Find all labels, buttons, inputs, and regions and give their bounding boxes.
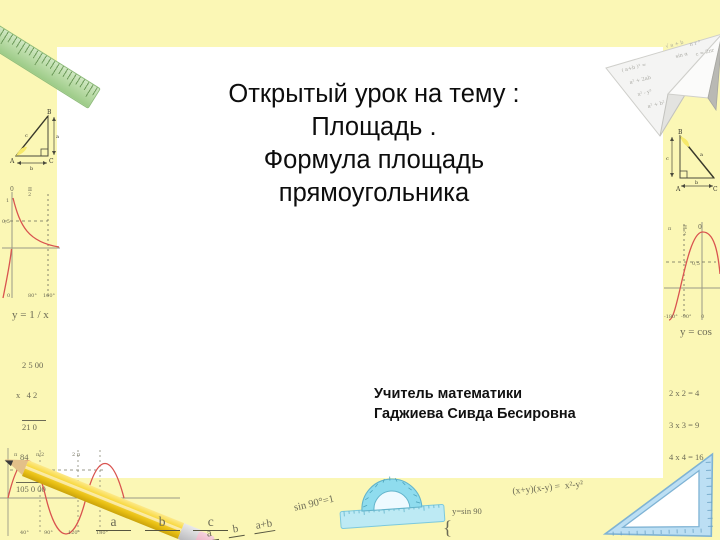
equation-line: y=sin 90 <box>452 506 491 517</box>
cyan-protractor <box>338 470 446 532</box>
equation-system: { y=sin 90 x=25y + 45 { y= 1 x= 25 + 45 … <box>443 462 491 540</box>
svg-text:π: π <box>683 224 687 231</box>
svg-text:b: b <box>30 166 33 170</box>
svg-text:a: a <box>56 134 59 140</box>
graph-hyperbola: 1 0,5 0 0 π 2 80° 160° <box>2 186 60 306</box>
svg-text:π/2: π/2 <box>36 452 44 458</box>
svg-text:-90°: -90° <box>681 314 692 320</box>
long-multiplication-line: 2 5 00 <box>22 360 46 370</box>
graph-hyperbola-label: y = 1 / x <box>12 309 49 322</box>
svg-text:B: B <box>678 129 683 136</box>
svg-text:1: 1 <box>6 198 9 204</box>
slide-title-line: Открытый урок на тему : <box>104 78 644 111</box>
svg-text:160°: 160° <box>43 293 56 299</box>
svg-text:0: 0 <box>701 314 704 320</box>
svg-text:2 π: 2 π <box>72 452 81 458</box>
triangle-diagram-right: B A C c a b <box>664 128 720 192</box>
svg-text:80°: 80° <box>28 293 37 299</box>
svg-text:c: c <box>666 156 669 162</box>
svg-text:c: c <box>25 133 28 139</box>
fraction-term: a <box>200 526 218 540</box>
svg-text:2: 2 <box>28 192 31 198</box>
svg-text:40°: 40° <box>20 530 29 536</box>
svg-text:b: b <box>695 180 698 186</box>
graph-cosine-label: y = cos <box>680 326 712 339</box>
graph-cosine: 0 π 2 π 0,5 -180° -90° 0 <box>664 216 720 326</box>
times-table-row: 3 x 3 = 9 <box>669 420 704 431</box>
svg-text:0: 0 <box>7 293 10 299</box>
svg-text:π: π <box>668 226 672 232</box>
slide-title-line: прямоугольника <box>104 177 644 210</box>
svg-text:C: C <box>49 158 54 165</box>
slide-author-line: Гаджиева Сивда Бесировна <box>374 405 674 425</box>
svg-text:2: 2 <box>683 231 686 237</box>
slide-author: Учитель математики Гаджиева Сивда Бесиро… <box>374 385 674 424</box>
times-table-row: 2 x 2 = 4 <box>669 388 704 399</box>
svg-text:0: 0 <box>698 224 702 231</box>
presentation-slide: B A C c a b 1 0,5 0 0 π 2 80° 160° y = 1… <box>0 0 720 540</box>
svg-text:B: B <box>47 109 52 116</box>
svg-text:C: C <box>713 186 718 192</box>
slide-title-line: Площадь . <box>104 111 644 144</box>
slide-author-line: Учитель математики <box>374 385 674 405</box>
svg-text:a: a <box>700 152 703 158</box>
law-of-sines-num: b <box>145 514 180 531</box>
slide-title: Открытый урок на тему : Площадь . Формул… <box>104 78 644 210</box>
fraction-term: a+b <box>253 517 276 534</box>
svg-text:0,5: 0,5 <box>692 261 700 267</box>
svg-text:0,5: 0,5 <box>2 219 10 225</box>
fraction-term: b <box>226 522 244 538</box>
svg-text:A: A <box>9 158 15 165</box>
svg-text:120°: 120° <box>68 530 81 536</box>
blue-set-square <box>600 450 720 540</box>
svg-text:90°: 90° <box>44 530 53 536</box>
svg-text:-180°: -180° <box>664 314 678 320</box>
long-multiplication-line: x 4 2 <box>16 390 46 400</box>
long-multiplication-line: 21 0 <box>22 420 46 432</box>
triangle-diagram-left: B A C c a b <box>8 108 62 170</box>
law-of-sines-num: a <box>96 514 131 531</box>
svg-text:A: A <box>675 186 681 192</box>
svg-text:0: 0 <box>10 186 14 193</box>
slide-title-line: Формула площадь <box>104 144 644 177</box>
brace-icon: { <box>443 519 452 538</box>
